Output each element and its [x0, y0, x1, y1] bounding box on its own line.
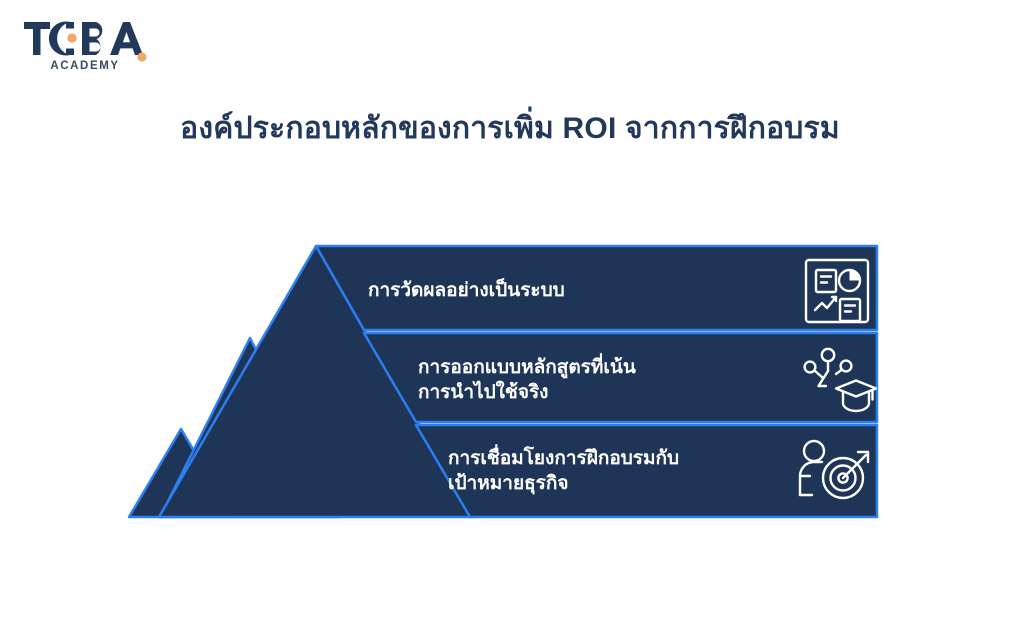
pyramid-level-1-label: การวัดผลอย่างเป็นระบบ	[368, 278, 565, 303]
pyramid-diagram	[0, 0, 1020, 624]
pyramid-level-3-label: การเชื่อมโยงการฝึกอบรมกับ เป้าหมายธุรกิจ	[448, 446, 679, 496]
pyramid-level-2-label: การออกแบบหลักสูตรที่เน้น การนำไปใช้จริง	[418, 355, 636, 405]
pyramid-diagram-svg	[0, 0, 1020, 624]
